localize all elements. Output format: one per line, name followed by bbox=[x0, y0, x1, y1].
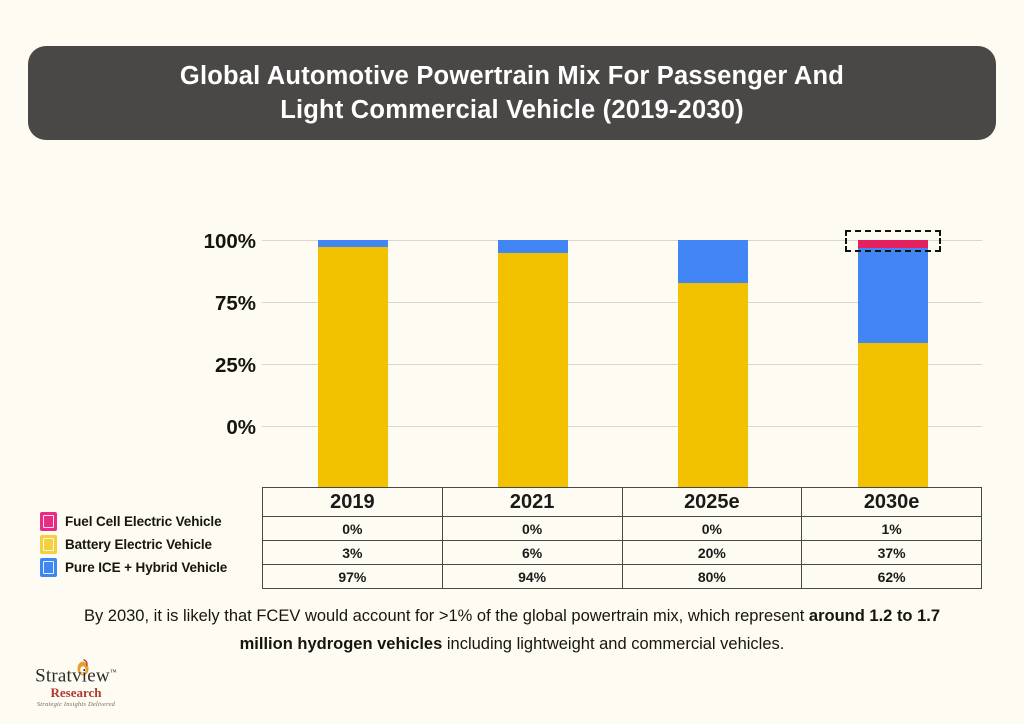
cell-ice-2019: 97% bbox=[263, 565, 443, 589]
logo-tagline: Strategic Insights Delivered bbox=[16, 700, 136, 710]
legend-item-ice[interactable]: Pure ICE + Hybrid Vehicle bbox=[40, 556, 262, 579]
cell-ice-2030e: 62% bbox=[802, 565, 982, 589]
cell-fcev-2030e: 1% bbox=[802, 517, 982, 541]
y-axis-tick-25: 25% bbox=[186, 354, 256, 378]
cell-ice-2021: 94% bbox=[442, 565, 622, 589]
cell-fcev-2025e: 0% bbox=[622, 517, 802, 541]
table-row: 0% 0% 0% 1% bbox=[263, 517, 982, 541]
y-axis-tick-0: 0% bbox=[186, 416, 256, 440]
logo-name-text: Stratview bbox=[35, 665, 110, 686]
table-row: 3% 6% 20% 37% bbox=[263, 541, 982, 565]
cell-bev-2025e: 20% bbox=[622, 541, 802, 565]
legend-label-ice: Pure ICE + Hybrid Vehicle bbox=[65, 560, 227, 575]
car-engine-icon bbox=[40, 558, 57, 577]
footnote-text: By 2030, it is likely that FCEV would ac… bbox=[62, 602, 962, 658]
cell-bev-2030e: 37% bbox=[802, 541, 982, 565]
bar-2021[interactable] bbox=[498, 240, 568, 487]
table-col-2019: 2019 bbox=[263, 488, 443, 517]
legend-label-bev: Battery Electric Vehicle bbox=[65, 537, 212, 552]
bar-segment-ice-2030e bbox=[858, 343, 928, 487]
stratview-research-logo[interactable]: Stratview™ Research Strategic Insights D… bbox=[16, 662, 136, 710]
cell-fcev-2019: 0% bbox=[263, 517, 443, 541]
bar-segment-ice-2021 bbox=[498, 253, 568, 487]
hydrogen-pump-icon bbox=[40, 512, 57, 531]
legend-item-fcev[interactable]: Fuel Cell Electric Vehicle bbox=[40, 510, 262, 533]
bar-segment-bev-2030e bbox=[858, 248, 928, 343]
bar-segment-fcev-2030e bbox=[858, 240, 928, 248]
bar-segment-ice-2019 bbox=[318, 247, 388, 488]
battery-icon bbox=[40, 535, 57, 554]
bar-2025e[interactable] bbox=[678, 240, 748, 487]
bar-segment-bev-2021 bbox=[498, 240, 568, 253]
cell-bev-2021: 6% bbox=[442, 541, 622, 565]
bar-segment-ice-2025e bbox=[678, 283, 748, 487]
footnote-part-1: By 2030, it is likely that FCEV would ac… bbox=[84, 607, 809, 625]
table-col-2025e: 2025e bbox=[622, 488, 802, 517]
logo-name: Stratview™ bbox=[16, 662, 136, 686]
cell-fcev-2021: 0% bbox=[442, 517, 622, 541]
bar-2030e[interactable] bbox=[858, 240, 928, 487]
logo-subtitle: Research bbox=[16, 686, 136, 700]
bar-segment-bev-2025e bbox=[678, 240, 748, 283]
table-header-row: 2019 2021 2025e 2030e bbox=[263, 488, 982, 517]
legend-label-fcev: Fuel Cell Electric Vehicle bbox=[65, 514, 221, 529]
footnote-part-2: including lightweight and commercial veh… bbox=[442, 635, 784, 653]
table-row: 97% 94% 80% 62% bbox=[263, 565, 982, 589]
logo-trademark: ™ bbox=[110, 668, 117, 676]
bar-2019[interactable] bbox=[318, 240, 388, 487]
y-axis-tick-100: 100% bbox=[186, 230, 256, 254]
cell-ice-2025e: 80% bbox=[622, 565, 802, 589]
legend-row-labels: Fuel Cell Electric Vehicle Battery Elect… bbox=[40, 510, 262, 579]
table-col-2030e: 2030e bbox=[802, 488, 982, 517]
y-axis-tick-75: 75% bbox=[186, 292, 256, 316]
powertrain-data-table: 2019 2021 2025e 2030e 0% 0% 0% 1% 3% 6% … bbox=[262, 487, 982, 589]
table-col-2021: 2021 bbox=[442, 488, 622, 517]
legend-item-bev[interactable]: Battery Electric Vehicle bbox=[40, 533, 262, 556]
cell-bev-2019: 3% bbox=[263, 541, 443, 565]
